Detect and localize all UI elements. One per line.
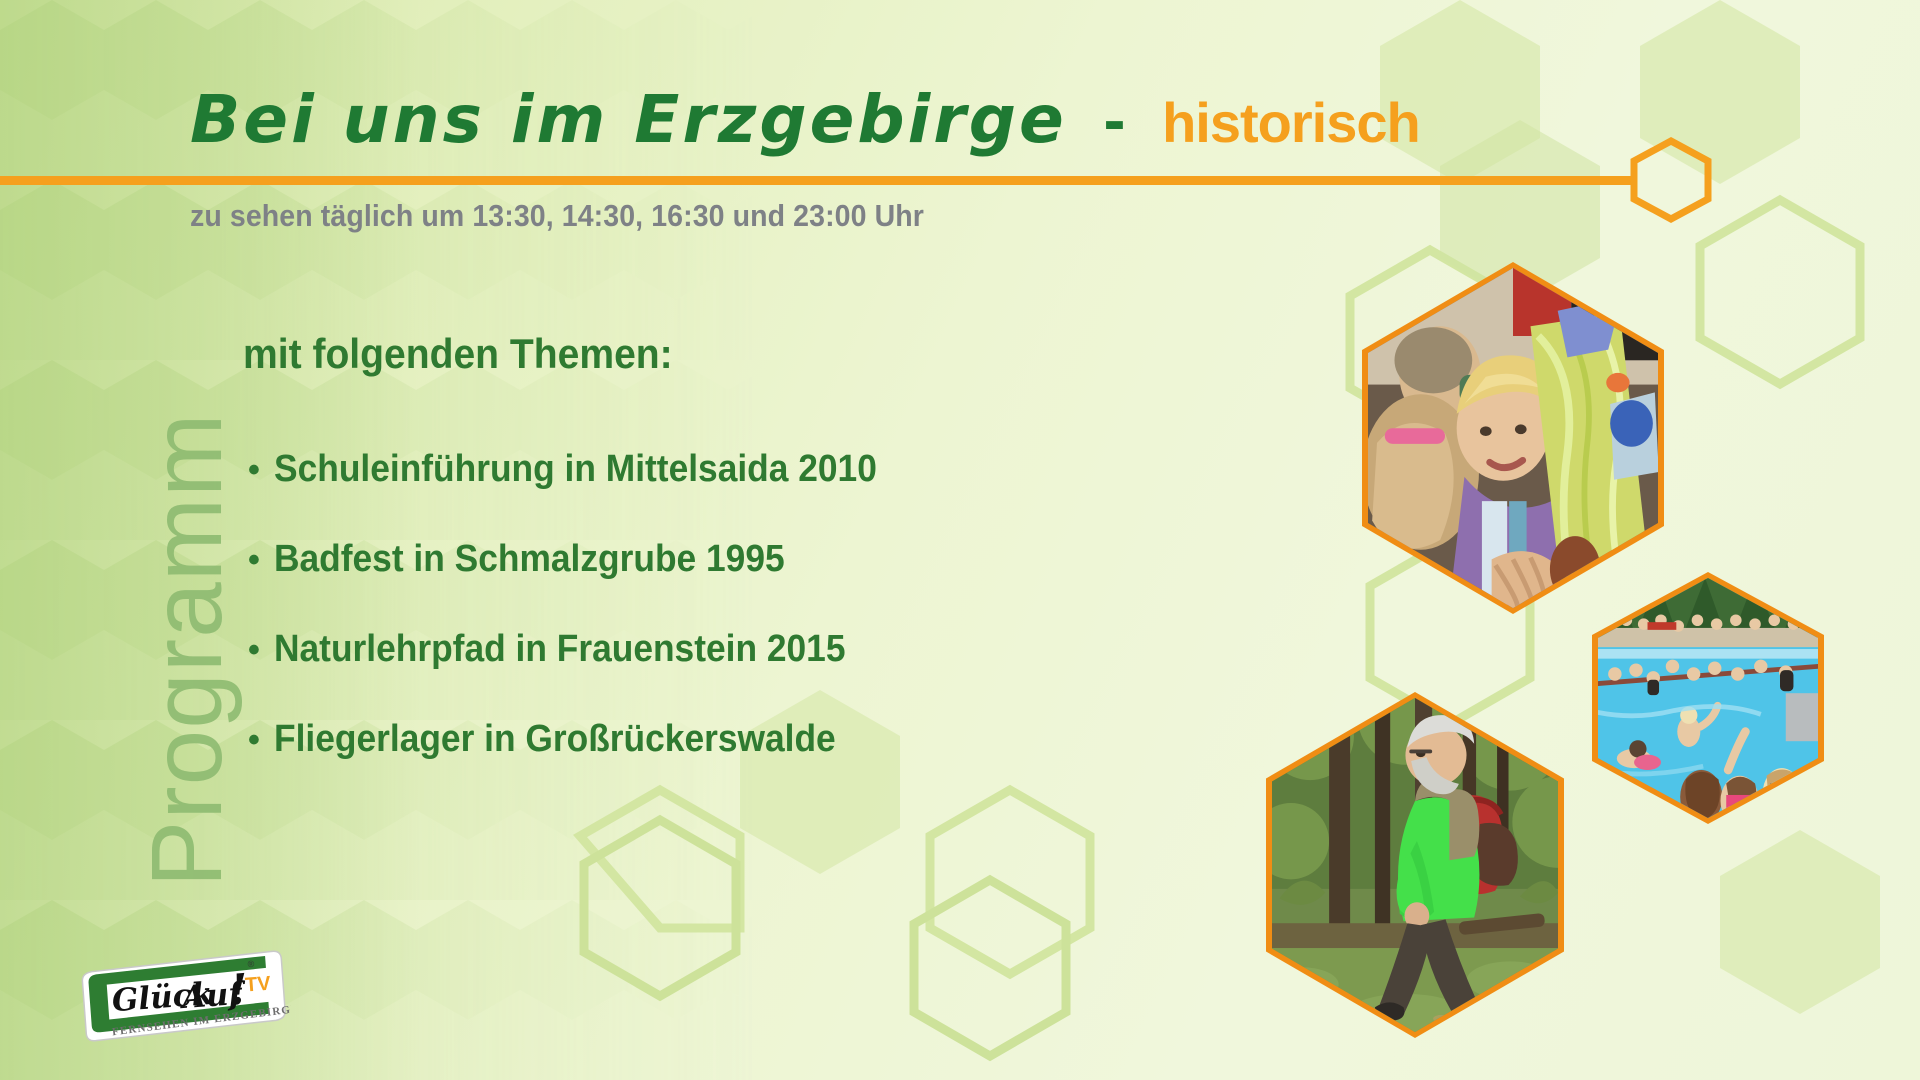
list-item-label: Naturlehrpfad in Frauenstein 2015 xyxy=(274,628,845,671)
logo-tv-label: TV xyxy=(244,973,272,997)
list-item-label: Badfest in Schmalzgrube 1995 xyxy=(274,538,785,581)
slide-canvas: Bei uns im Erzgebirge - historisch zu se… xyxy=(0,0,1920,1080)
broadcast-times: zu sehen täglich um 13:30, 14:30, 16:30 … xyxy=(190,198,924,234)
header-rule-hexagon-icon xyxy=(1628,137,1714,223)
section-label-programm: Programm xyxy=(137,300,237,1000)
channel-logo[interactable]: Glück Auf ! ® TV FERNSEHEN IM ERZGEBIRGE xyxy=(75,948,293,1049)
bullet-icon: • xyxy=(248,543,274,577)
page-title-dash: - xyxy=(1067,82,1162,156)
header-rule xyxy=(0,176,1632,185)
page-title-main: Bei uns im Erzgebirge xyxy=(190,81,1067,158)
list-item-label: Schuleinführung in Mittelsaida 2010 xyxy=(274,448,877,491)
page-title-accent: historisch xyxy=(1162,91,1420,154)
list-item: • Badfest in Schmalzgrube 1995 xyxy=(248,538,922,628)
bullet-icon: • xyxy=(248,723,274,757)
list-item-label: Fliegerlager in Großrückerswalde xyxy=(274,718,836,761)
topics-intro: mit folgenden Themen: xyxy=(243,330,673,378)
list-item: • Naturlehrpfad in Frauenstein 2015 xyxy=(248,628,922,718)
logo-registered-icon: ® xyxy=(247,959,255,969)
bullet-icon: • xyxy=(248,453,274,487)
topics-list: • Schuleinführung in Mittelsaida 2010 • … xyxy=(248,448,922,808)
bullet-icon: • xyxy=(248,633,274,667)
list-item: • Schuleinführung in Mittelsaida 2010 xyxy=(248,448,922,538)
list-item: • Fliegerlager in Großrückerswalde xyxy=(248,718,922,808)
page-title: Bei uns im Erzgebirge - historisch xyxy=(190,86,1420,153)
